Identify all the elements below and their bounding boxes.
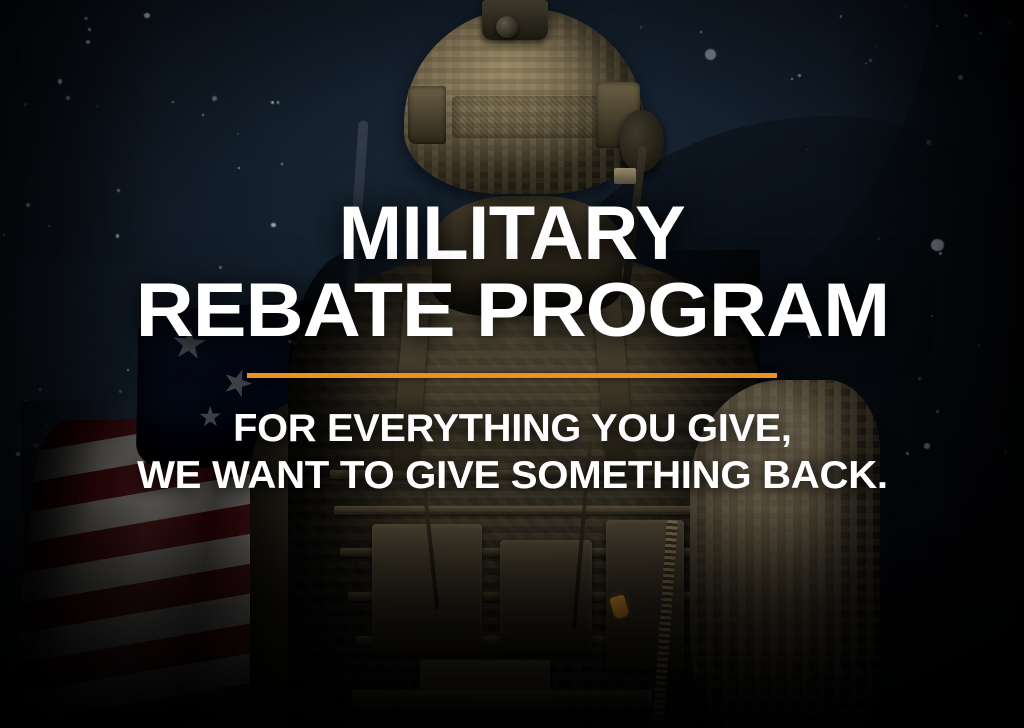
- helmet-rail-left: [408, 86, 446, 144]
- helmet-id-tag: [614, 168, 636, 184]
- helmet-velcro-panel: [452, 96, 600, 138]
- right-sleeve-camo-pattern: [690, 380, 880, 728]
- waist-belt: [352, 690, 652, 708]
- molle-webbing-row: [334, 506, 706, 515]
- soldier-figure: [0, 0, 1024, 728]
- gear-pouch: [372, 524, 482, 654]
- face-gaiter: [432, 196, 622, 316]
- nvg-knob: [496, 16, 518, 38]
- molle-webbing-row: [330, 470, 710, 479]
- military-rebate-banner: MILITARY REBATE PROGRAM FOR EVERYTHING Y…: [0, 0, 1024, 728]
